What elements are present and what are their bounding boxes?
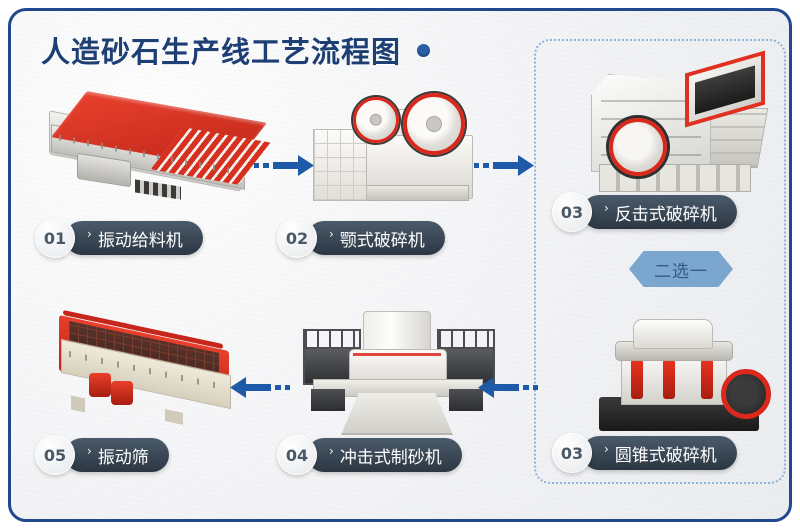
chevron-right-icon: › — [87, 444, 92, 458]
arrow-sand-to-screen — [228, 373, 290, 403]
title-bullet-icon — [417, 44, 430, 57]
machine-image-sand-making-machine — [297, 311, 497, 436]
machine-image-vibrating-screen — [43, 311, 258, 431]
step-label-text-01: 振动给料机 — [98, 226, 183, 251]
step-number-01: 01 — [35, 218, 75, 258]
step-pill-05[interactable]: › 振动筛 — [65, 438, 169, 472]
step-label-02[interactable]: 02 › 颚式破碎机 — [277, 218, 445, 258]
machine-image-jaw-crusher — [307, 73, 487, 213]
step-number-02: 02 — [277, 218, 317, 258]
flowchart-page: 人造砂石生产线工艺流程图 — [0, 0, 800, 530]
choice-badge: 二选一 — [629, 251, 733, 287]
arrow-jaw-to-impact — [474, 151, 536, 181]
step-label-05[interactable]: 05 › 振动筛 — [35, 435, 169, 475]
step-label-04[interactable]: 04 › 冲击式制砂机 — [277, 435, 462, 475]
machine-image-vibrating-feeder — [39, 91, 269, 206]
machine-image-impact-crusher — [577, 56, 777, 201]
step-label-01[interactable]: 01 › 振动给料机 — [35, 218, 203, 258]
machine-image-cone-crusher — [597, 311, 767, 441]
step-pill-04[interactable]: › 冲击式制砂机 — [307, 438, 462, 472]
choice-badge-label: 二选一 — [654, 257, 708, 282]
step-pill-02[interactable]: › 颚式破碎机 — [307, 221, 445, 255]
arrow-cone-to-sand — [476, 373, 538, 403]
step-number-03-impact: 03 — [552, 192, 592, 232]
poster-frame: 人造砂石生产线工艺流程图 — [8, 8, 792, 522]
step-label-text-05: 振动筛 — [98, 443, 149, 468]
step-pill-03-impact[interactable]: › 反击式破碎机 — [582, 195, 737, 229]
step-label-text-02: 颚式破碎机 — [340, 226, 425, 251]
chevron-right-icon: › — [87, 227, 92, 241]
chevron-right-icon: › — [604, 201, 609, 215]
page-title: 人造砂石生产线工艺流程图 — [41, 29, 430, 71]
step-label-text-03-cone: 圆锥式破碎机 — [615, 441, 717, 466]
chevron-right-icon: › — [604, 442, 609, 456]
step-number-05: 05 — [35, 435, 75, 475]
chevron-right-icon: › — [329, 444, 334, 458]
step-label-03-cone[interactable]: 03 › 圆锥式破碎机 — [552, 433, 737, 473]
step-number-03-cone: 03 — [552, 433, 592, 473]
step-label-text-04: 冲击式制砂机 — [340, 443, 442, 468]
step-pill-03-cone[interactable]: › 圆锥式破碎机 — [582, 436, 737, 470]
step-number-04: 04 — [277, 435, 317, 475]
arrow-feeder-to-jaw — [254, 151, 316, 181]
step-pill-01[interactable]: › 振动给料机 — [65, 221, 203, 255]
step-label-text-03-impact: 反击式破碎机 — [615, 200, 717, 225]
chevron-right-icon: › — [329, 227, 334, 241]
step-label-03-impact[interactable]: 03 › 反击式破碎机 — [552, 192, 737, 232]
page-title-text: 人造砂石生产线工艺流程图 — [41, 29, 401, 71]
